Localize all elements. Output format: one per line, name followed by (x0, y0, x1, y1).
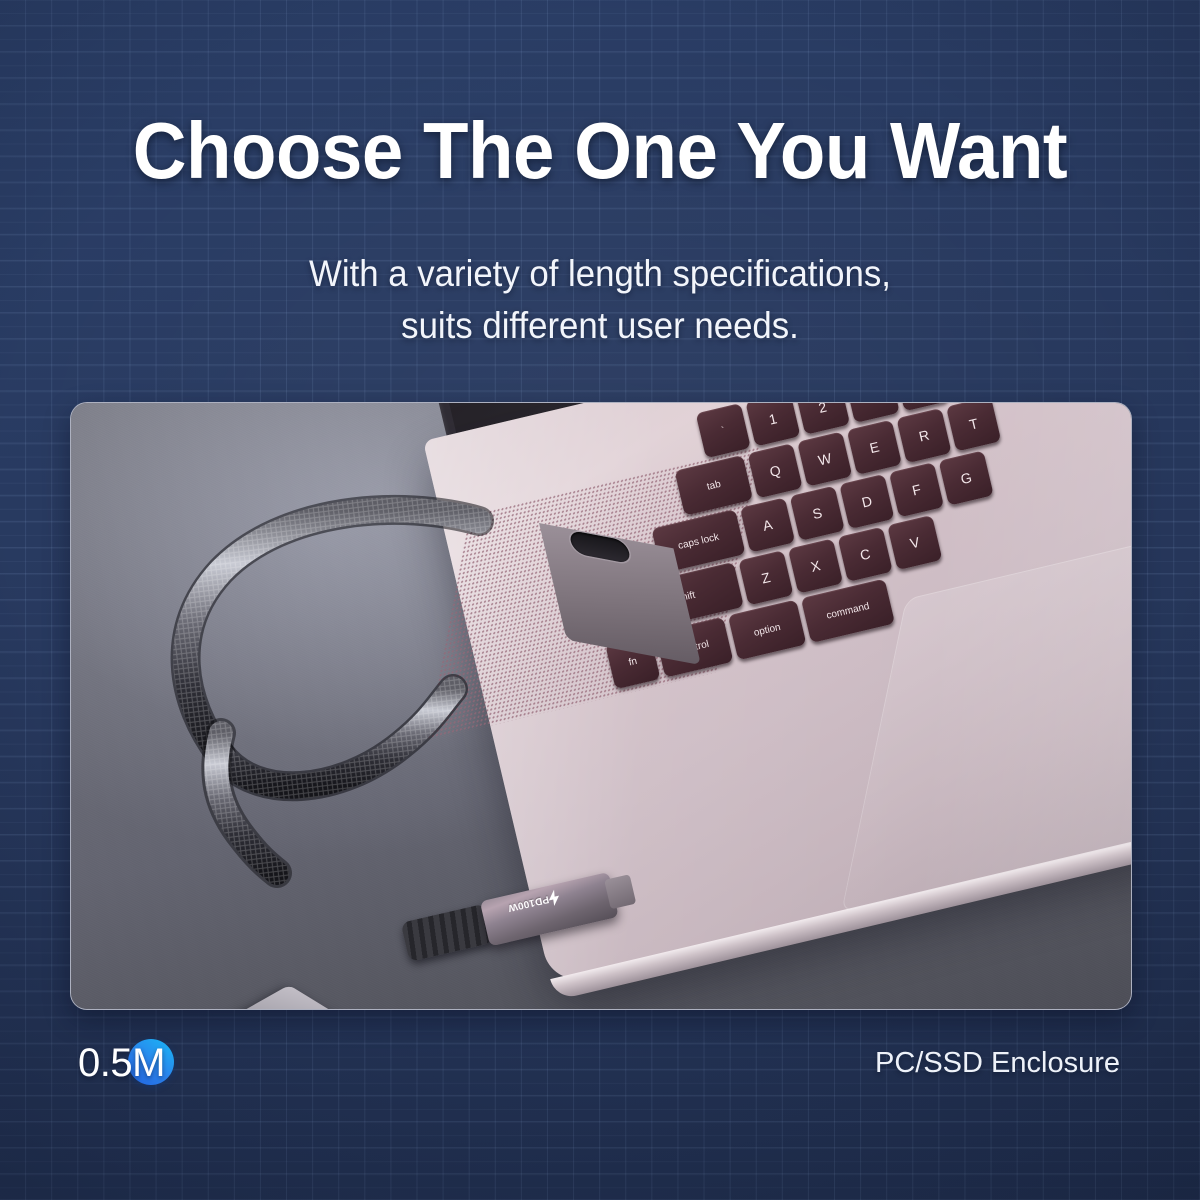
length-value: 0.5M (78, 1036, 165, 1090)
product-category-label: PC/SSD Enclosure (875, 1041, 1120, 1085)
length-badge: 0.5M (78, 1036, 165, 1090)
marketing-banner: Choose The One You Want With a variety o… (0, 0, 1200, 1200)
subtitle-line-2: suits different user needs. (36, 300, 1164, 352)
product-photo: esc ` 1 2 3 4 tab Q W E R T (70, 402, 1132, 1010)
subtitle-line-1: With a variety of length specifications, (36, 248, 1164, 300)
page-title: Choose The One You Want (42, 108, 1158, 194)
page-subtitle: With a variety of length specifications,… (36, 248, 1164, 352)
